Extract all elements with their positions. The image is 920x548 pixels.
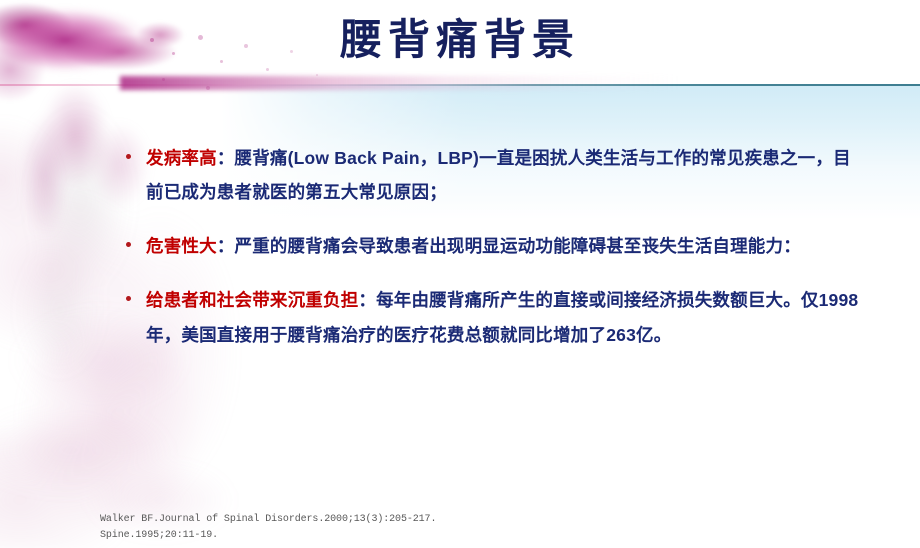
page-title: 腰背痛背景 bbox=[0, 18, 920, 64]
bullet-lead-text: 给患者和社会带来沉重负担 bbox=[146, 290, 358, 310]
bullet-body-text: ：严重的腰背痛会导致患者出现明显运动功能障碍甚至丧失生活自理能力： bbox=[217, 236, 801, 256]
citation-reference: Walker BF.Journal of Spinal Disorders.20… bbox=[100, 512, 436, 543]
bullet-dot-icon bbox=[126, 296, 131, 301]
list-item: 给患者和社会带来沉重负担：每年由腰背痛所产生的直接或间接经济损失数额巨大。仅19… bbox=[120, 283, 860, 351]
bullet-dot-icon bbox=[126, 242, 131, 247]
bullet-lead-text: 发病率高 bbox=[146, 148, 217, 168]
bullet-lead-text: 危害性大 bbox=[146, 236, 217, 256]
list-item: 危害性大：严重的腰背痛会导致患者出现明显运动功能障碍甚至丧失生活自理能力： bbox=[120, 229, 860, 263]
bullet-dot-icon bbox=[126, 154, 131, 159]
slide-canvas: 腰背痛背景 发病率高：腰背痛(Low Back Pain，LBP)一直是困扰人类… bbox=[0, 0, 920, 548]
bullet-body-text: ：腰背痛(Low Back Pain，LBP)一直是困扰人类生活与工作的常见疾患… bbox=[146, 148, 851, 202]
list-item: 发病率高：腰背痛(Low Back Pain，LBP)一直是困扰人类生活与工作的… bbox=[120, 141, 860, 209]
bullet-list: 发病率高：腰背痛(Low Back Pain，LBP)一直是困扰人类生活与工作的… bbox=[120, 141, 860, 352]
